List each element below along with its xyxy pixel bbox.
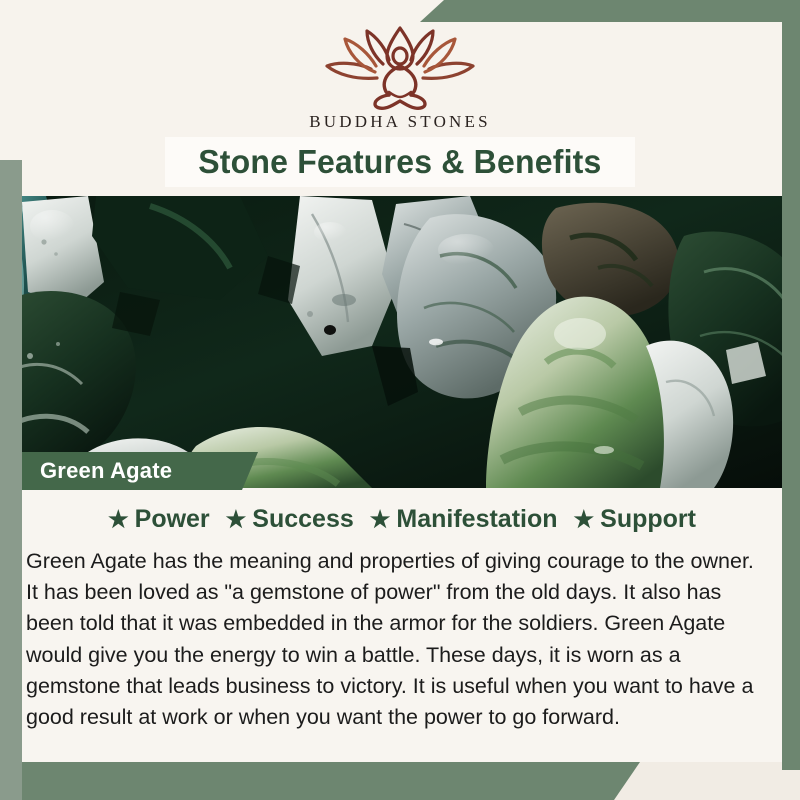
benefit-label: Support <box>600 505 696 534</box>
benefit-item: ★ Manifestation <box>370 505 558 534</box>
star-icon: ★ <box>370 508 391 531</box>
stone-name: Green Agate <box>40 458 172 484</box>
benefit-item: ★ Power <box>108 505 210 534</box>
benefit-label: Power <box>135 505 210 534</box>
frame-left-accent <box>0 160 22 800</box>
frame-right-accent <box>782 0 800 770</box>
page-title: Stone Features & Benefits <box>198 143 601 181</box>
brand-logo: BUDDHA STONES <box>0 22 800 132</box>
stone-description: Green Agate has the meaning and properti… <box>22 546 782 733</box>
stone-photo-illustration <box>0 196 800 488</box>
body-section: ★ Power ★ Success ★ Manifestation ★ Supp… <box>22 488 782 762</box>
benefit-item: ★ Success <box>226 505 354 534</box>
star-icon: ★ <box>108 508 129 531</box>
star-icon: ★ <box>226 508 247 531</box>
frame-bottom-accent <box>0 762 640 800</box>
star-icon: ★ <box>574 508 595 531</box>
stone-info-card: BUDDHA STONES Stone Features & Benefits <box>0 0 800 800</box>
benefit-label: Manifestation <box>396 505 557 534</box>
lotus-meditation-figure-icon <box>315 22 485 110</box>
benefit-label: Success <box>252 505 353 534</box>
benefits-list: ★ Power ★ Success ★ Manifestation ★ Supp… <box>22 488 782 534</box>
stone-photo <box>0 196 800 488</box>
benefit-item: ★ Support <box>574 505 696 534</box>
frame-top-accent <box>420 0 800 22</box>
stone-name-ribbon: Green Agate <box>18 452 258 490</box>
title-panel: Stone Features & Benefits <box>165 137 635 187</box>
brand-name: BUDDHA STONES <box>309 112 491 132</box>
